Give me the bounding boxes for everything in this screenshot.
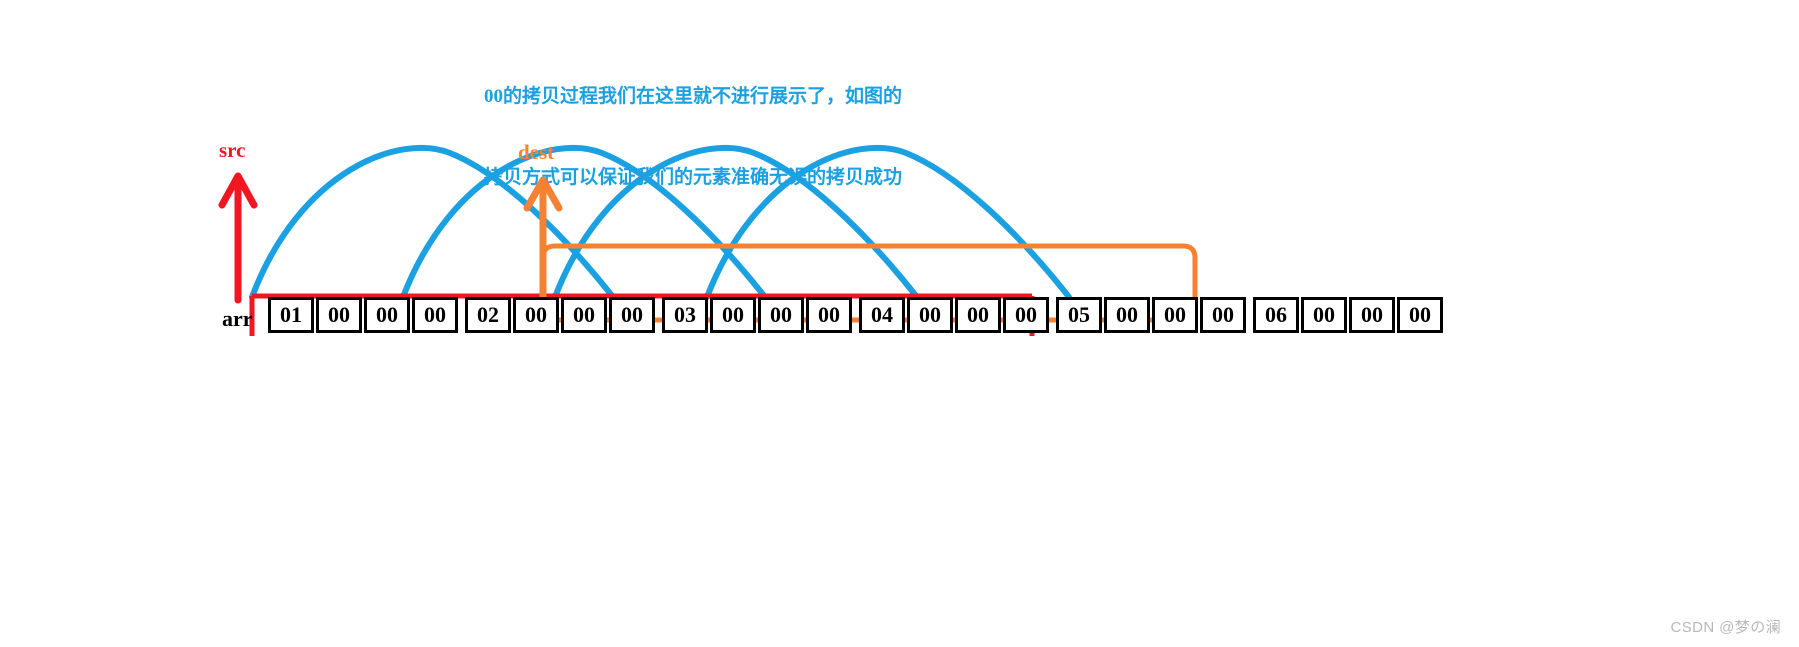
- array-cell: 00: [1349, 297, 1395, 333]
- array-cell: 00: [907, 297, 953, 333]
- array-cell: 00: [364, 297, 410, 333]
- array-cell: 00: [412, 297, 458, 333]
- dest-arrow: [527, 180, 559, 300]
- src-marker-label: src: [219, 138, 245, 163]
- array-cell: 03: [662, 297, 708, 333]
- array-label: arr: [222, 306, 253, 332]
- diagram-canvas: 00的拷贝过程我们在这里就不进行展示了，如图的 拷贝方式可以保证我们的元素准确无…: [0, 0, 1799, 647]
- array-cell: 00: [1397, 297, 1443, 333]
- array-cell: 00: [316, 297, 362, 333]
- array-cell: 00: [1301, 297, 1347, 333]
- array-cell: 00: [513, 297, 559, 333]
- array-cell: 00: [1152, 297, 1198, 333]
- copy-arc-2: [403, 148, 765, 297]
- array-cell: 04: [859, 297, 905, 333]
- array-cell: 01: [268, 297, 314, 333]
- array-cell: 00: [609, 297, 655, 333]
- array-cell: 00: [1003, 297, 1049, 333]
- array-cell: 02: [465, 297, 511, 333]
- array-cell: 00: [758, 297, 804, 333]
- array-cell: 00: [955, 297, 1001, 333]
- copy-arc-3: [555, 148, 917, 297]
- array-cell: 06: [1253, 297, 1299, 333]
- copy-arc-group: [252, 148, 1069, 297]
- array-cell: 00: [710, 297, 756, 333]
- src-arrow: [222, 176, 254, 300]
- array-cell: 00: [1200, 297, 1246, 333]
- array-cells: 0100000002000000030000000400000005000000…: [268, 297, 1443, 333]
- copy-arc-4: [707, 148, 1069, 297]
- array-cell: 00: [1104, 297, 1150, 333]
- copy-arc-1: [252, 148, 613, 297]
- array-cell: 05: [1056, 297, 1102, 333]
- dest-marker-label: dest: [518, 140, 554, 165]
- array-cell: 00: [806, 297, 852, 333]
- array-cell: 00: [561, 297, 607, 333]
- watermark: CSDN @梦の澜: [1671, 616, 1782, 637]
